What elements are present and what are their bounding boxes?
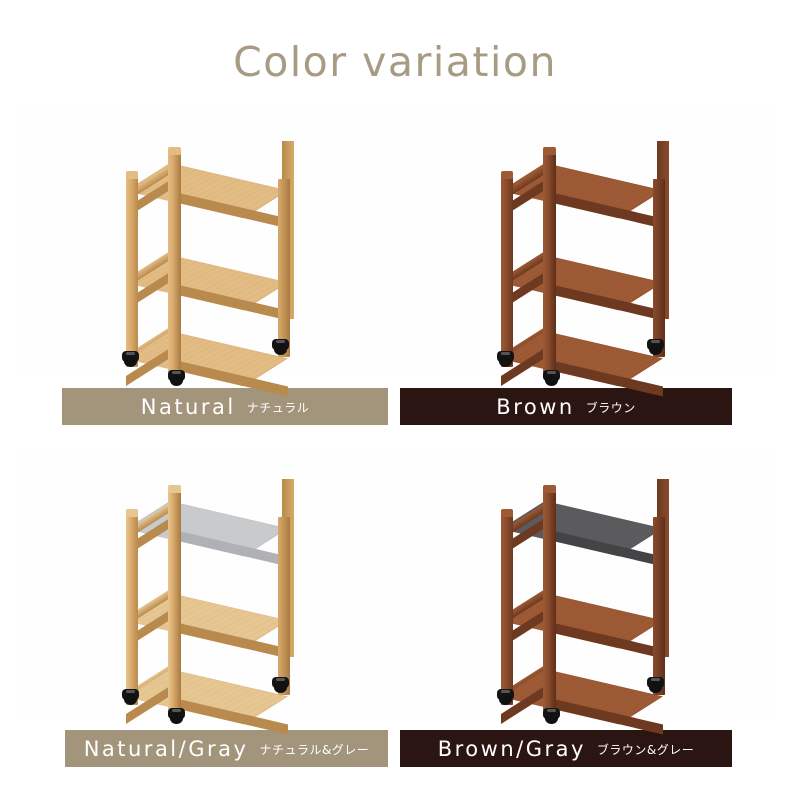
- variation-card-natural[interactable]: Natural ナチュラル: [20, 105, 395, 435]
- caster-wheel: [499, 356, 512, 367]
- caster-wheel: [545, 375, 558, 386]
- cart-caster-front-left: [497, 351, 514, 366]
- caster-highlight: [651, 678, 660, 681]
- variation-card-natural-gray[interactable]: Natural/Gray ナチュラル&グレー: [20, 447, 395, 777]
- cart-post-front-right: [278, 179, 290, 357]
- caster-highlight: [276, 678, 285, 681]
- caster-wheel: [170, 713, 183, 724]
- product-photo-natural-gray: [20, 447, 395, 719]
- variation-label-natural: Natural ナチュラル: [62, 388, 388, 425]
- shelf-top-face: [126, 501, 288, 556]
- cart-post-front-left: [501, 513, 513, 705]
- variation-name-en: Brown/Gray: [438, 737, 586, 761]
- product-photo-brown-gray: [395, 447, 770, 719]
- cart-post-front-left: [126, 513, 138, 705]
- caster-wheel: [499, 694, 512, 705]
- caster-wheel: [170, 375, 183, 386]
- cart-post-front-center: [168, 489, 181, 711]
- cart-post-front-center: [543, 489, 556, 711]
- caster-wheel: [649, 344, 662, 355]
- cart-caster-back-right: [272, 677, 289, 692]
- cart-caster-front-center: [543, 370, 560, 385]
- variation-name-jp: ブラウン: [586, 399, 636, 416]
- caster-wheel: [124, 694, 137, 705]
- cart-caster-back-right: [647, 339, 664, 354]
- caster-highlight: [501, 690, 510, 693]
- caster-highlight: [276, 340, 285, 343]
- cart-illustration-brown: [487, 127, 683, 373]
- post-cap: [126, 171, 138, 179]
- post-cap: [543, 485, 556, 493]
- variation-name-en: Natural/Gray: [84, 737, 249, 761]
- caster-wheel: [124, 356, 137, 367]
- caster-highlight: [172, 371, 181, 374]
- variation-grid: Natural ナチュラル Brown ブラウン Natural/Gray ナチ…: [0, 105, 790, 790]
- variation-label-brown: Brown ブラウン: [400, 388, 732, 425]
- cart-caster-front-left: [122, 351, 139, 366]
- color-variation-page: Color variation Natural ナチュラル Brown ブラウン: [0, 0, 790, 790]
- wood-grain: [126, 163, 288, 218]
- caster-wheel: [274, 682, 287, 693]
- caster-wheel: [274, 344, 287, 355]
- product-photo-brown: [395, 105, 770, 377]
- cart-post-front-right: [653, 179, 665, 357]
- cart-caster-front-center: [168, 708, 185, 723]
- caster-highlight: [547, 709, 556, 712]
- caster-highlight: [172, 709, 181, 712]
- caster-highlight: [651, 340, 660, 343]
- caster-wheel: [649, 682, 662, 693]
- post-cap: [168, 147, 181, 155]
- cart-caster-front-left: [497, 689, 514, 704]
- post-cap: [501, 509, 513, 517]
- caster-highlight: [126, 690, 135, 693]
- caster-highlight: [126, 352, 135, 355]
- variation-name-jp: ナチュラル&グレー: [259, 741, 369, 758]
- cart-post-front-left: [126, 175, 138, 367]
- cart-post-front-left: [501, 175, 513, 367]
- cart-caster-back-right: [647, 677, 664, 692]
- post-cap: [126, 509, 138, 517]
- cart-post-front-center: [168, 151, 181, 373]
- cart-post-front-right: [278, 517, 290, 695]
- variation-label-natural-gray: Natural/Gray ナチュラル&グレー: [65, 730, 388, 767]
- shelf-top-face: [126, 163, 288, 218]
- caster-wheel: [545, 713, 558, 724]
- variation-name-en: Natural: [141, 395, 236, 419]
- cart-post-front-right: [653, 517, 665, 695]
- post-cap: [543, 147, 556, 155]
- wood-grain: [501, 163, 663, 218]
- shelf-top-face: [501, 501, 663, 556]
- post-cap: [168, 485, 181, 493]
- caster-highlight: [501, 352, 510, 355]
- cart-caster-back-right: [272, 339, 289, 354]
- cart-illustration-brown-gray: [487, 465, 683, 711]
- cart-illustration-natural-gray: [112, 465, 308, 711]
- shelf-top-face: [501, 163, 663, 218]
- variation-name-en: Brown: [496, 395, 574, 419]
- cart-caster-front-left: [122, 689, 139, 704]
- variation-card-brown[interactable]: Brown ブラウン: [395, 105, 770, 435]
- cart-caster-front-center: [168, 370, 185, 385]
- caster-highlight: [547, 371, 556, 374]
- post-cap: [501, 171, 513, 179]
- variation-name-jp: ナチュラル: [247, 399, 310, 416]
- cart-caster-front-center: [543, 708, 560, 723]
- product-photo-natural: [20, 105, 395, 377]
- cart-post-front-center: [543, 151, 556, 373]
- variation-name-jp: ブラウン&グレー: [597, 741, 694, 758]
- variation-card-brown-gray[interactable]: Brown/Gray ブラウン&グレー: [395, 447, 770, 777]
- variation-label-brown-gray: Brown/Gray ブラウン&グレー: [400, 730, 732, 767]
- page-title: Color variation: [0, 38, 790, 86]
- cart-illustration-natural: [112, 127, 308, 373]
